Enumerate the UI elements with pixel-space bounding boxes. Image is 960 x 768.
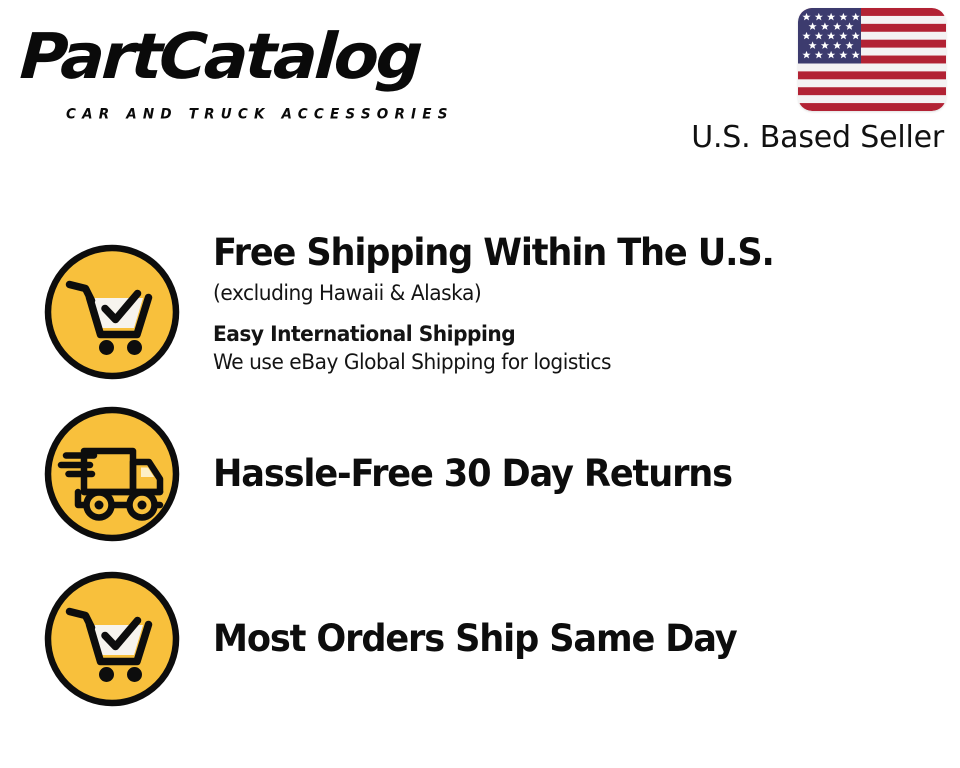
feature-subtext-logistics: We use eBay Global Shipping for logistic… [213, 348, 885, 376]
feature-text-block: Most Orders Ship Same Day [213, 618, 913, 660]
shopping-cart-check-icon [42, 242, 182, 382]
brand-logo[interactable]: PartCatalog CAR AND TRUCK ACCESSORIES [22, 22, 472, 112]
feature-text-block: Hassle-Free 30 Day Returns [213, 453, 913, 495]
header-bar: PartCatalog CAR AND TRUCK ACCESSORIES [0, 0, 960, 160]
feature-heading: Most Orders Ship Same Day [213, 618, 878, 660]
brand-tagline: CAR AND TRUCK ACCESSORIES [66, 106, 454, 123]
feature-subtext-international: Easy International Shipping [213, 320, 885, 348]
seller-label: U.S. Based Seller [686, 120, 946, 155]
feature-row: Free Shipping Within The U.S. (excluding… [0, 232, 960, 392]
feature-subtext-exclusion: (excluding Hawaii & Alaska) [213, 279, 885, 307]
us-based-seller-badge: U.S. Based Seller [686, 8, 946, 155]
delivery-truck-icon [42, 404, 182, 544]
brand-wordmark: PartCatalog [18, 22, 421, 92]
feature-row: Most Orders Ship Same Day [0, 569, 960, 719]
us-flag-icon [798, 8, 946, 111]
feature-heading: Free Shipping Within The U.S. [213, 232, 878, 274]
shopping-cart-check-icon [42, 569, 182, 709]
feature-text-block: Free Shipping Within The U.S. (excluding… [213, 232, 913, 376]
feature-row: Hassle-Free 30 Day Returns [0, 404, 960, 554]
feature-heading: Hassle-Free 30 Day Returns [213, 453, 878, 495]
